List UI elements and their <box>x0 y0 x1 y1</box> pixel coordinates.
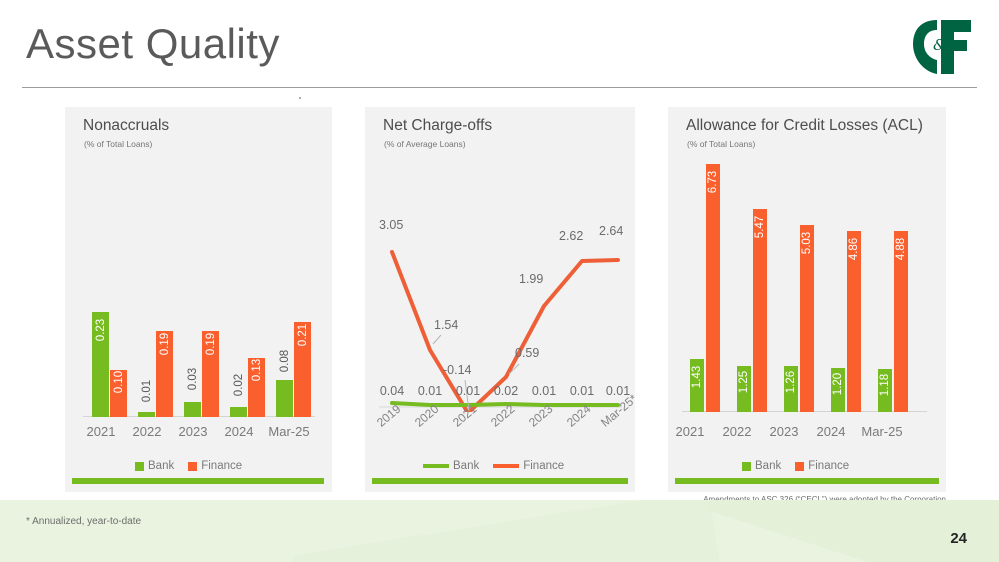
panel-accent-bar <box>372 478 628 484</box>
legend-line-bank-icon <box>423 464 449 468</box>
bar-bank-2024: 0.02 <box>230 407 247 417</box>
panel-nonaccruals: Nonaccruals (% of Total Loans) 0.23 0.10… <box>65 107 332 492</box>
legend-swatch-finance-icon <box>188 462 197 471</box>
point-label-finance-mar25: 2.64 <box>599 224 623 238</box>
bar-bank-2023: 0.03 <box>184 402 201 417</box>
bar-value-label: 4.86 <box>848 238 860 260</box>
page-title: Asset Quality <box>26 18 280 70</box>
point-label-finance-2021: -0.14 <box>443 363 472 377</box>
cat-label-mar25: Mar-25 <box>843 424 921 439</box>
panel-subtitle-nonaccruals: (% of Total Loans) <box>84 139 152 149</box>
bar-value-label: 0.03 <box>187 368 199 390</box>
bar-finance-2024: 4.86 <box>847 231 861 412</box>
bar-bank-2024: 1.20 <box>831 368 845 412</box>
bar-finance-2021: 0.10 <box>110 370 127 417</box>
bar-bank-mar25: 0.08 <box>276 380 293 417</box>
footer-band: * Annualized, year-to-date 24 <box>0 500 999 562</box>
panel-title-acl: Allowance for Credit Losses (ACL) <box>686 117 923 135</box>
legend-swatch-bank-icon <box>135 462 144 471</box>
bar-finance-2022: 0.19 <box>156 331 173 417</box>
line-chart-svg <box>373 162 628 412</box>
bar-value-label: 1.25 <box>738 371 750 393</box>
footer-wedge-decor <box>293 500 727 562</box>
bar-finance-mar25: 0.21 <box>294 322 311 417</box>
legend-label-bank: Bank <box>148 460 174 472</box>
panel-title-nonaccruals: Nonaccruals <box>83 117 169 135</box>
legend-item-finance: Finance <box>188 460 242 472</box>
legend-item-finance: Finance <box>493 460 564 472</box>
panel-title-charge-offs: Net Charge-offs <box>383 117 492 135</box>
panel-acl: Allowance for Credit Losses (ACL) (% of … <box>668 107 946 492</box>
legend-label-finance: Finance <box>808 460 849 472</box>
legend-item-bank: Bank <box>135 460 174 472</box>
bar-bank-2022: 1.25 <box>737 366 751 412</box>
bar-value-label: 0.10 <box>113 371 125 393</box>
bar-bank-2022: 0.01 <box>138 412 155 417</box>
legend-label-bank: Bank <box>453 460 479 472</box>
cf-logo: & <box>907 16 977 76</box>
bar-value-label: 0.19 <box>159 333 171 355</box>
cat-label-mar25: Mar-25 <box>250 424 328 439</box>
legend-swatch-bank-icon <box>742 462 751 471</box>
bar-value-label: 0.02 <box>233 374 245 396</box>
legend-item-finance: Finance <box>795 460 849 472</box>
legend-swatch-finance-icon <box>795 462 804 471</box>
bar-value-label: 1.20 <box>832 373 844 395</box>
bar-bank-2021: 1.43 <box>690 359 704 412</box>
legend-label-bank: Bank <box>755 460 781 472</box>
panel-subtitle-charge-offs: (% of Average Loans) <box>384 139 466 149</box>
bar-value-label: 5.47 <box>754 216 766 238</box>
panel-accent-bar <box>675 478 939 484</box>
bar-value-label: 0.01 <box>141 380 153 402</box>
header-divider <box>22 87 977 88</box>
bar-value-label: 0.08 <box>279 350 291 372</box>
point-label-bank-2023: 0.01 <box>525 384 563 398</box>
panel-subtitle-acl: (% of Total Loans) <box>687 139 755 149</box>
point-label-bank-2024: 0.01 <box>563 384 601 398</box>
legend-item-bank: Bank <box>423 460 479 472</box>
bar-finance-2021: 6.73 <box>706 164 720 412</box>
bar-bank-2023: 1.26 <box>784 366 798 412</box>
bar-bank-2021: 0.23 <box>92 312 109 417</box>
point-label-finance-2024: 2.62 <box>559 229 583 243</box>
bar-bank-mar25: 1.18 <box>878 369 892 412</box>
bar-value-label: 0.13 <box>251 359 263 381</box>
legend-label-finance: Finance <box>523 460 564 472</box>
point-label-finance-2019: 3.05 <box>379 218 403 232</box>
point-label-bank-2019: 0.04 <box>373 384 411 398</box>
legend-item-bank: Bank <box>742 460 781 472</box>
bar-finance-2023: 5.03 <box>800 225 814 412</box>
nonaccruals-plot: 0.23 0.10 0.01 0.19 0.03 0.19 0.02 0.13 … <box>83 307 315 417</box>
charge-offs-plot: 3.05 1.54 -0.14 0.59 1.99 2.62 2.64 0.04… <box>373 162 628 412</box>
legend-label-finance: Finance <box>201 460 242 472</box>
point-label-finance-2023: 1.99 <box>519 272 543 286</box>
panel-accent-bar <box>72 478 324 484</box>
bar-value-label: 5.03 <box>801 232 813 254</box>
bar-finance-2022: 5.47 <box>753 209 767 412</box>
bar-value-label: 6.73 <box>707 171 719 193</box>
bar-value-label: 0.19 <box>205 333 217 355</box>
acl-plot: 1.43 6.73 1.25 5.47 1.26 5.03 1.20 4.86 … <box>682 162 927 412</box>
page-number: 24 <box>950 530 967 547</box>
point-label-finance-2020: 1.54 <box>434 318 458 332</box>
legend-nonaccruals: Bank Finance <box>135 460 242 472</box>
bar-value-label: 1.18 <box>879 374 891 396</box>
bar-value-label: 1.43 <box>691 366 703 388</box>
panel-net-charge-offs: Net Charge-offs (% of Average Loans) 3.0… <box>365 107 635 492</box>
bar-value-label: 1.26 <box>785 371 797 393</box>
bar-finance-2023: 0.19 <box>202 331 219 417</box>
svg-text:&: & <box>933 36 946 54</box>
point-label-bank-2022: 0.02 <box>487 384 525 398</box>
bar-value-label: 0.23 <box>95 319 107 341</box>
bar-finance-mar25: 4.88 <box>894 231 908 412</box>
legend-line-finance-icon <box>493 464 519 468</box>
legend-charge-offs: Bank Finance <box>423 460 564 472</box>
slide-footnote: * Annualized, year-to-date <box>26 516 141 527</box>
bar-finance-2024: 0.13 <box>248 358 265 417</box>
leader-line-154 <box>433 335 441 344</box>
point-label-bank-2020: 0.01 <box>411 384 449 398</box>
bar-value-label: 0.21 <box>297 324 309 346</box>
point-label-finance-2022: 0.59 <box>515 346 539 360</box>
stray-dot <box>299 97 301 99</box>
legend-acl: Bank Finance <box>742 460 849 472</box>
bar-value-label: 4.88 <box>895 238 907 260</box>
point-label-bank-2021: 0.01 <box>449 384 487 398</box>
